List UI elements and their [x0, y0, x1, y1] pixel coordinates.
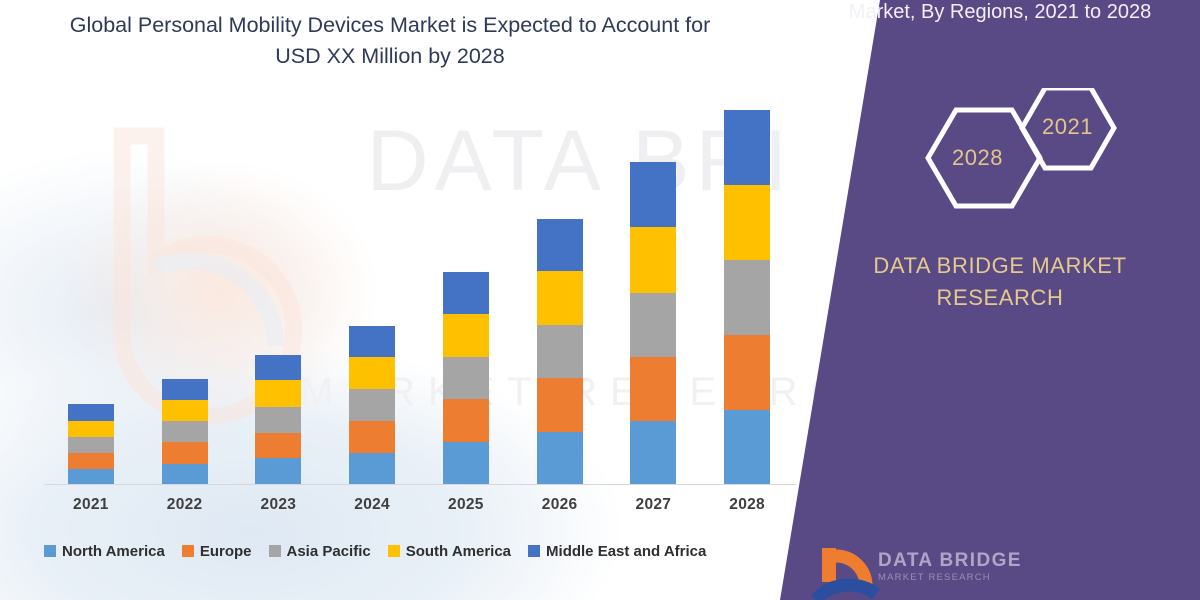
segment-europe-2023 — [255, 433, 301, 459]
legend-item-asia-pacific[interactable]: Asia Pacific — [269, 543, 371, 560]
legend-label: South America — [406, 543, 511, 560]
segment-south-america-2025 — [443, 314, 489, 357]
legend-label: Europe — [200, 543, 252, 560]
segment-middle-east-and-africa-2026 — [537, 219, 583, 271]
segment-middle-east-and-africa-2021 — [68, 404, 114, 421]
chart-legend: North AmericaEuropeAsia PacificSouth Ame… — [44, 538, 804, 564]
x-axis-labels: 20212022202320242025202620272028 — [44, 496, 796, 522]
bar-2023 — [255, 355, 301, 485]
segment-north-america-2028 — [724, 410, 770, 485]
brand-line-1: DATA BRIDGE MARKET — [873, 253, 1126, 278]
segment-middle-east-and-africa-2023 — [255, 355, 301, 381]
segment-south-america-2024 — [349, 357, 395, 389]
segment-asia-pacific-2025 — [443, 357, 489, 400]
panel-heading-line: Market, By Regions, 2021 to 2028 — [849, 1, 1151, 23]
segment-europe-2024 — [349, 421, 395, 453]
segment-europe-2022 — [162, 442, 208, 463]
legend-item-middle-east-and-africa[interactable]: Middle East and Africa — [528, 543, 706, 560]
x-label-2025: 2025 — [421, 496, 511, 514]
brand-panel: Personal Mobility Devices Market, By Reg… — [780, 0, 1200, 600]
x-label-2026: 2026 — [515, 496, 605, 514]
segment-north-america-2025 — [443, 442, 489, 485]
legend-swatch-icon — [388, 545, 400, 557]
x-label-2024: 2024 — [327, 496, 417, 514]
segment-europe-2028 — [724, 335, 770, 410]
legend-item-south-america[interactable]: South America — [388, 543, 511, 560]
legend-label: Middle East and Africa — [546, 543, 706, 560]
brand-line-2: RESEARCH — [936, 285, 1063, 310]
segment-north-america-2027 — [630, 421, 676, 485]
bar-2021 — [68, 404, 114, 485]
segment-south-america-2027 — [630, 227, 676, 292]
legend-label: Asia Pacific — [287, 543, 371, 560]
segment-middle-east-and-africa-2028 — [724, 110, 770, 185]
bar-2024 — [349, 326, 395, 485]
segment-europe-2021 — [68, 453, 114, 469]
segment-south-america-2026 — [537, 271, 583, 324]
panel-background-shape — [780, 0, 1200, 600]
data-bridge-b-icon — [810, 544, 880, 600]
legend-swatch-icon — [182, 545, 194, 557]
x-label-2027: 2027 — [608, 496, 698, 514]
bar-2027 — [630, 162, 676, 485]
x-axis-line — [44, 484, 796, 485]
segment-south-america-2023 — [255, 380, 301, 407]
segment-north-america-2024 — [349, 453, 395, 485]
x-label-2021: 2021 — [46, 496, 136, 514]
segment-asia-pacific-2024 — [349, 389, 395, 421]
x-label-2028: 2028 — [702, 496, 792, 514]
segment-middle-east-and-africa-2025 — [443, 272, 489, 314]
stacked-bar-group — [44, 100, 794, 485]
brand-name: DATA BRIDGE MARKET RESEARCH — [820, 250, 1180, 314]
chart-title: Global Personal Mobility Devices Market … — [60, 10, 720, 71]
hexagon-badges: 2028 2021 — [880, 88, 1180, 228]
segment-middle-east-and-africa-2022 — [162, 379, 208, 399]
legend-swatch-icon — [528, 545, 540, 557]
bar-2022 — [162, 379, 208, 485]
segment-europe-2026 — [537, 378, 583, 431]
legend-item-north-america[interactable]: North America — [44, 543, 165, 560]
x-label-2022: 2022 — [140, 496, 230, 514]
segment-middle-east-and-africa-2024 — [349, 326, 395, 357]
segment-asia-pacific-2026 — [537, 325, 583, 378]
footer-logo-subtext: MARKET RESEARCH — [878, 572, 991, 583]
segment-asia-pacific-2028 — [724, 260, 770, 335]
x-label-2023: 2023 — [233, 496, 323, 514]
hex-label-2028: 2028 — [952, 145, 1003, 171]
hexagon-outline-icons — [880, 88, 1180, 228]
segment-south-america-2021 — [68, 421, 114, 437]
legend-item-europe[interactable]: Europe — [182, 543, 252, 560]
panel-heading: Personal Mobility Devices Market, By Reg… — [800, 0, 1200, 27]
footer-logo: DATA BRIDGE MARKET RESEARCH — [800, 540, 1120, 600]
legend-swatch-icon — [269, 545, 281, 557]
bar-2028 — [724, 110, 770, 485]
segment-asia-pacific-2023 — [255, 407, 301, 433]
segment-south-america-2022 — [162, 400, 208, 421]
hex-label-2021: 2021 — [1042, 114, 1093, 140]
infographic-canvas: DATA BRI MARKET RESEARCH Global Personal… — [0, 0, 1200, 600]
segment-europe-2025 — [443, 399, 489, 442]
segment-north-america-2021 — [68, 469, 114, 485]
bar-2025 — [443, 272, 489, 485]
legend-swatch-icon — [44, 545, 56, 557]
bar-2026 — [537, 219, 583, 485]
segment-asia-pacific-2022 — [162, 421, 208, 442]
segment-asia-pacific-2027 — [630, 293, 676, 357]
legend-label: North America — [62, 543, 165, 560]
chart-plot-area — [44, 100, 794, 485]
segment-middle-east-and-africa-2027 — [630, 162, 676, 227]
segment-europe-2027 — [630, 357, 676, 421]
segment-asia-pacific-2021 — [68, 437, 114, 453]
segment-north-america-2022 — [162, 464, 208, 485]
footer-logo-text: DATA BRIDGE — [878, 550, 1022, 572]
segment-north-america-2023 — [255, 458, 301, 485]
segment-north-america-2026 — [537, 432, 583, 485]
segment-south-america-2028 — [724, 185, 770, 261]
